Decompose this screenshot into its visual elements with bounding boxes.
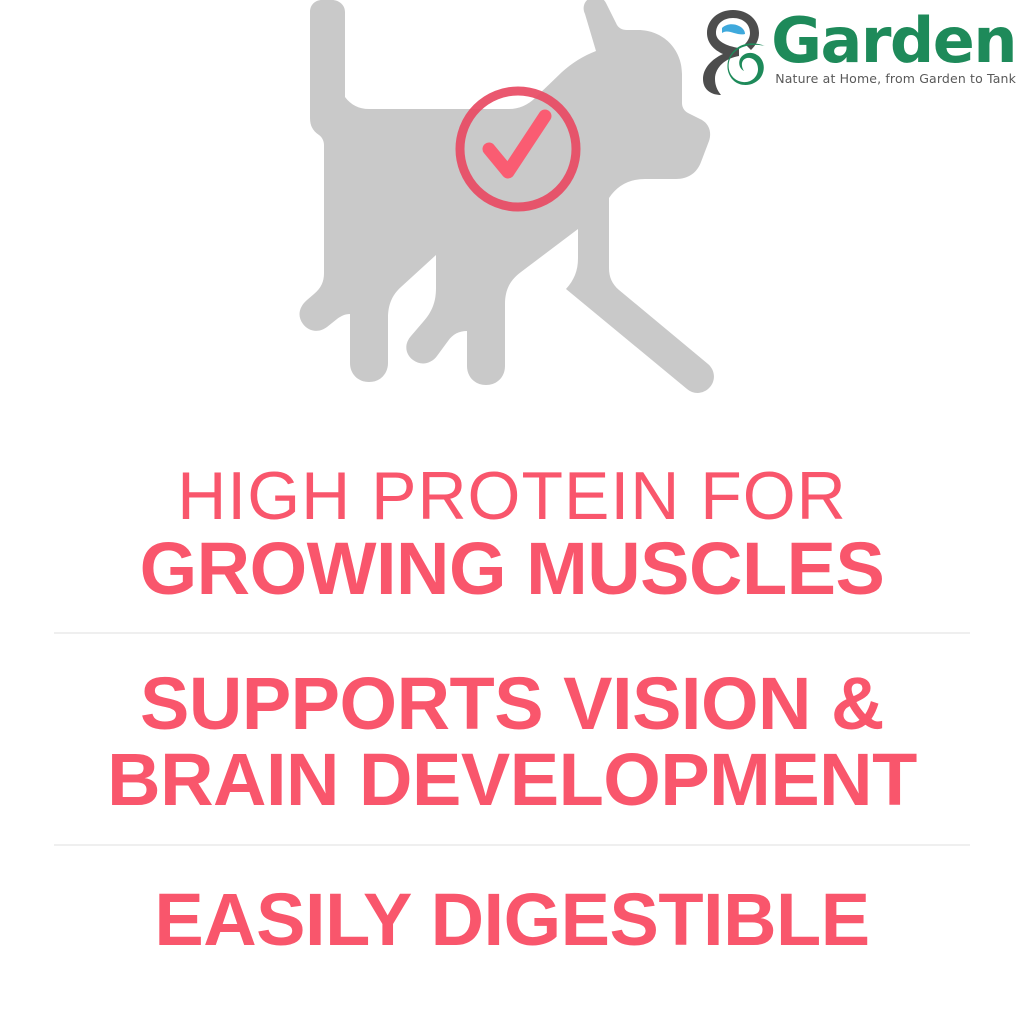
benefit-infographic-page: Garden Nature at Home, from Garden to Ta… xyxy=(0,0,1024,1024)
benefit-item-high-protein: HIGH PROTEIN FOR GROWING MUSCLES xyxy=(0,400,1024,608)
benefit-item-easily-digestible: EASILY DIGESTIBLE xyxy=(0,846,1024,958)
benefit-line-secondary: GROWING MUSCLES xyxy=(0,531,1024,607)
benefit-line-secondary: BRAIN DEVELOPMENT xyxy=(0,742,1024,818)
brand-tagline: Nature at Home, from Garden to Tank xyxy=(775,71,1016,86)
benefit-item-vision-brain: SUPPORTS VISION & BRAIN DEVELOPMENT xyxy=(0,634,1024,818)
infinity-leaf-waterdrop-logo-icon xyxy=(695,6,773,98)
benefit-line-primary: EASILY DIGESTIBLE xyxy=(0,882,1024,958)
benefit-line-primary: SUPPORTS VISION & xyxy=(0,666,1024,742)
brand-text: Garden Nature at Home, from Garden to Ta… xyxy=(771,4,1016,86)
brand-name: Garden xyxy=(771,12,1016,69)
brand-logo: Garden Nature at Home, from Garden to Ta… xyxy=(695,4,1016,104)
benefits-list: HIGH PROTEIN FOR GROWING MUSCLES SUPPORT… xyxy=(0,400,1024,1024)
benefit-line-primary: HIGH PROTEIN FOR xyxy=(0,462,1024,531)
